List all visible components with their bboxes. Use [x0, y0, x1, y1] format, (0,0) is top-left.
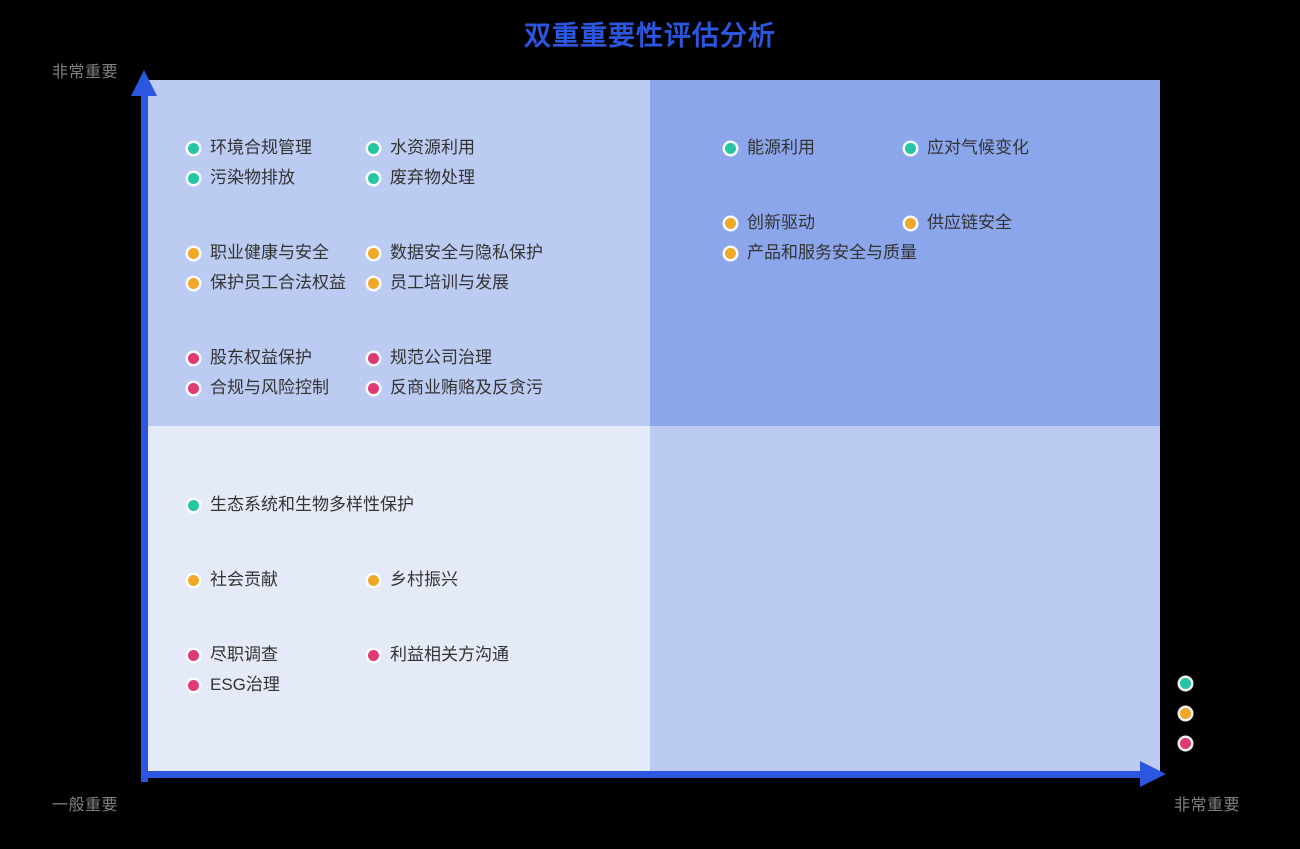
topic-item[interactable]: 供应链安全 [905, 213, 1012, 233]
topic-dot-icon [368, 575, 379, 586]
topic-label: 创新驱动 [747, 213, 815, 233]
topic-item[interactable]: 规范公司治理 [368, 348, 492, 368]
topic-label: 能源利用 [747, 138, 815, 158]
quadrant-bottom-left [148, 426, 650, 775]
legend-item-social[interactable] [1180, 698, 1295, 728]
topic-label: 产品和服务安全与质量 [747, 243, 917, 263]
topic-item[interactable]: 水资源利用 [368, 138, 475, 158]
topic-dot-icon [188, 173, 199, 184]
y-axis-line [141, 92, 148, 782]
topic-item[interactable]: 产品和服务安全与质量 [725, 243, 917, 263]
topic-item[interactable]: 员工培训与发展 [368, 273, 509, 293]
topic-item[interactable]: 应对气候变化 [905, 138, 1029, 158]
topic-item[interactable]: 环境合规管理 [188, 138, 312, 158]
page-title: 双重重要性评估分析 [0, 16, 1300, 56]
topic-item[interactable]: 废弃物处理 [368, 168, 475, 188]
topic-dot-icon [725, 143, 736, 154]
topic-label: 职业健康与安全 [210, 243, 329, 263]
topic-item[interactable]: 尽职调查 [188, 645, 278, 665]
topic-label: 应对气候变化 [927, 138, 1029, 158]
topic-label: 保护员工合法权益 [210, 273, 346, 293]
topic-item[interactable]: 数据安全与隐私保护 [368, 243, 543, 263]
topic-dot-icon [188, 650, 199, 661]
topic-label: 乡村振兴 [390, 570, 458, 590]
topic-dot-icon [188, 278, 199, 289]
topic-item[interactable]: 能源利用 [725, 138, 815, 158]
topic-dot-icon [188, 680, 199, 691]
topic-item[interactable]: 反商业贿赂及反贪污 [368, 378, 543, 398]
topic-label: 合规与风险控制 [210, 378, 329, 398]
topic-dot-icon [188, 500, 199, 511]
topic-label: 股东权益保护 [210, 348, 312, 368]
topic-item[interactable]: 股东权益保护 [188, 348, 312, 368]
legend-dot-icon [1180, 738, 1191, 749]
topic-item[interactable]: 乡村振兴 [368, 570, 458, 590]
topic-item[interactable]: 创新驱动 [725, 213, 815, 233]
topic-item[interactable]: 污染物排放 [188, 168, 295, 188]
topic-dot-icon [188, 383, 199, 394]
topic-label: 规范公司治理 [390, 348, 492, 368]
legend-item-environment[interactable] [1180, 668, 1295, 698]
topic-dot-icon [905, 218, 916, 229]
topic-label: 环境合规管理 [210, 138, 312, 158]
topic-dot-icon [368, 353, 379, 364]
x-axis-right-label: 非常重要 [1174, 791, 1240, 815]
topic-label: 水资源利用 [390, 138, 475, 158]
topic-dot-icon [188, 143, 199, 154]
topic-label: 生态系统和生物多样性保护 [210, 495, 414, 515]
y-axis-bottom-label: 一般重要 [52, 791, 118, 815]
topic-label: ESG治理 [210, 675, 280, 695]
topic-dot-icon [368, 383, 379, 394]
topic-label: 利益相关方沟通 [390, 645, 509, 665]
y-axis-top-label: 非常重要 [52, 58, 118, 82]
topic-item[interactable]: ESG治理 [188, 675, 280, 695]
topic-label: 员工培训与发展 [390, 273, 509, 293]
topic-dot-icon [368, 278, 379, 289]
legend-item-governance[interactable] [1180, 728, 1295, 758]
legend-dot-icon [1180, 678, 1191, 689]
topic-label: 尽职调查 [210, 645, 278, 665]
topic-item[interactable]: 职业健康与安全 [188, 243, 329, 263]
topic-dot-icon [368, 248, 379, 259]
topic-label: 反商业贿赂及反贪污 [390, 378, 543, 398]
topic-dot-icon [905, 143, 916, 154]
topic-label: 社会贡献 [210, 570, 278, 590]
quadrant-bottom-right [650, 426, 1160, 775]
topic-label: 废弃物处理 [390, 168, 475, 188]
topic-dot-icon [368, 173, 379, 184]
topic-item[interactable]: 保护员工合法权益 [188, 273, 346, 293]
matrix-plot-area [148, 80, 1160, 775]
y-axis-arrow-icon [131, 70, 157, 96]
x-axis-line [141, 771, 1148, 778]
topic-label: 污染物排放 [210, 168, 295, 188]
topic-label: 供应链安全 [927, 213, 1012, 233]
topic-dot-icon [368, 143, 379, 154]
topic-dot-icon [188, 248, 199, 259]
legend [1180, 668, 1295, 758]
topic-dot-icon [188, 353, 199, 364]
topic-label: 数据安全与隐私保护 [390, 243, 543, 263]
topic-dot-icon [188, 575, 199, 586]
topic-item[interactable]: 生态系统和生物多样性保护 [188, 495, 414, 515]
topic-dot-icon [725, 218, 736, 229]
topic-dot-icon [725, 248, 736, 259]
topic-item[interactable]: 合规与风险控制 [188, 378, 329, 398]
topic-dot-icon [368, 650, 379, 661]
topic-item[interactable]: 利益相关方沟通 [368, 645, 509, 665]
legend-dot-icon [1180, 708, 1191, 719]
x-axis-arrow-icon [1140, 761, 1166, 787]
topic-item[interactable]: 社会贡献 [188, 570, 278, 590]
